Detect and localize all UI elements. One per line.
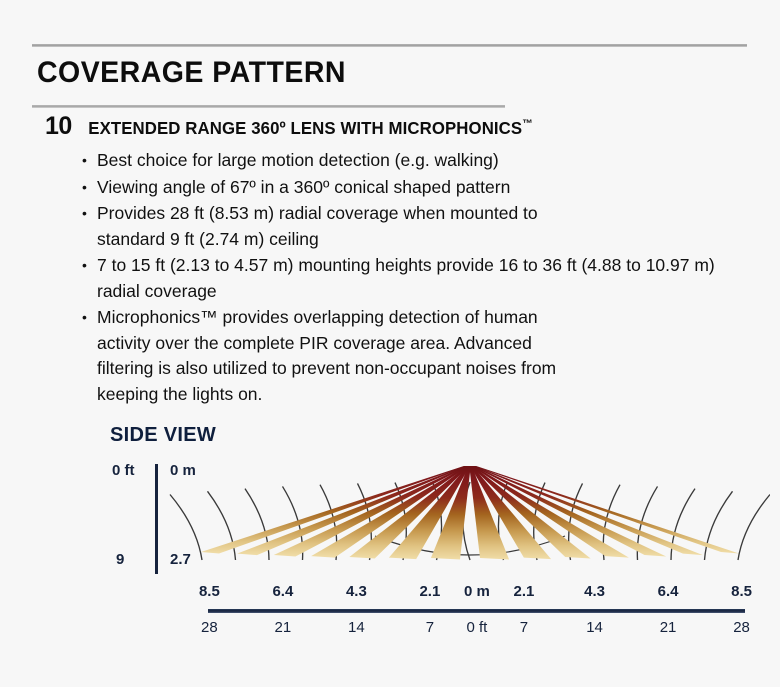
bullet-marker: • — [82, 253, 97, 279]
list-item-text: Viewing angle of 67º in a 360º conical s… — [97, 175, 722, 201]
x-tick-meters: 6.4 — [658, 583, 679, 600]
subheading-text: EXTENDED RANGE 360º LENS WITH MICROPHONI… — [88, 118, 533, 139]
subheading-row: 10 EXTENDED RANGE 360º LENS WITH MICROPH… — [45, 112, 542, 141]
x-tick-feet: 0 ft — [467, 619, 488, 636]
x-tick-feet: 21 — [660, 619, 677, 636]
x-tick-meters: 0 m — [464, 583, 490, 600]
y-axis-label-top-feet: 0 ft — [112, 462, 135, 479]
x-tick-feet: 28 — [733, 619, 750, 636]
list-item-text: 7 to 15 ft (2.13 to 4.57 m) mounting hei… — [97, 253, 722, 304]
top-divider — [32, 44, 747, 47]
coverage-fan-svg — [150, 452, 770, 577]
coverage-beam-group — [201, 466, 739, 559]
x-tick-meters: 4.3 — [346, 583, 367, 600]
list-item: • Microphonics™ provides overlapping det… — [82, 305, 722, 407]
list-item-line: standard 9 ft (2.74 m) ceiling — [97, 227, 722, 253]
list-item-line: Provides 28 ft (8.53 m) radial coverage … — [97, 201, 722, 227]
x-axis-meter-ticks: 8.56.44.32.10 m2.14.36.48.5 — [180, 583, 768, 603]
coverage-beam — [474, 466, 739, 554]
x-tick-meters: 4.3 — [584, 583, 605, 600]
list-item: • Best choice for large motion detection… — [82, 148, 722, 174]
x-tick-feet: 7 — [520, 619, 528, 636]
x-tick-meters: 8.5 — [731, 583, 752, 600]
slide-page: COVERAGE PATTERN 10 EXTENDED RANGE 360º … — [0, 0, 780, 687]
x-tick-feet: 14 — [348, 619, 365, 636]
y-axis-label-bottom-feet: 9 — [116, 551, 124, 568]
x-tick-feet: 21 — [275, 619, 292, 636]
list-item-line: activity over the complete PIR coverage … — [97, 331, 722, 357]
x-tick-feet: 28 — [201, 619, 218, 636]
bullet-list: • Best choice for large motion detection… — [82, 148, 722, 408]
bullet-marker: • — [82, 201, 97, 227]
x-tick-meters: 6.4 — [272, 583, 293, 600]
trademark-symbol: ™ — [522, 118, 533, 130]
page-title: COVERAGE PATTERN — [37, 56, 346, 90]
list-item: • Viewing angle of 67º in a 360º conical… — [82, 175, 722, 201]
bullet-marker: • — [82, 305, 97, 331]
list-item-line: Microphonics™ provides overlapping detec… — [97, 305, 722, 331]
list-item-text: Provides 28 ft (8.53 m) radial coverage … — [97, 201, 722, 252]
x-axis-feet-ticks: 28211470 ft7142128 — [180, 619, 768, 639]
x-tick-meters: 2.1 — [419, 583, 440, 600]
coverage-arc — [170, 495, 202, 561]
horizontal-axis-line — [208, 609, 745, 613]
coverage-arc — [738, 495, 770, 561]
x-tick-feet: 7 — [426, 619, 434, 636]
list-item-line: 7 to 15 ft (2.13 to 4.57 m) mounting hei… — [97, 255, 577, 275]
x-tick-feet: 14 — [586, 619, 603, 636]
list-item-text: Best choice for large motion detection (… — [97, 148, 722, 174]
side-view-heading: SIDE VIEW — [110, 424, 216, 447]
x-tick-meters: 2.1 — [514, 583, 535, 600]
subtitle-divider — [32, 105, 505, 108]
list-item: • Provides 28 ft (8.53 m) radial coverag… — [82, 201, 722, 252]
coverage-pattern-diagram — [150, 452, 770, 577]
bullet-marker: • — [82, 148, 97, 174]
list-item-text: Microphonics™ provides overlapping detec… — [97, 305, 722, 407]
item-number: 10 — [45, 112, 72, 141]
subheading-label: EXTENDED RANGE 360º LENS WITH MICROPHONI… — [88, 118, 522, 138]
list-item-line: filtering is also utilized to prevent no… — [97, 356, 722, 382]
list-item-line: keeping the lights on. — [97, 382, 722, 408]
bullet-marker: • — [82, 175, 97, 201]
x-tick-meters: 8.5 — [199, 583, 220, 600]
list-item: • 7 to 15 ft (2.13 to 4.57 m) mounting h… — [82, 253, 722, 304]
